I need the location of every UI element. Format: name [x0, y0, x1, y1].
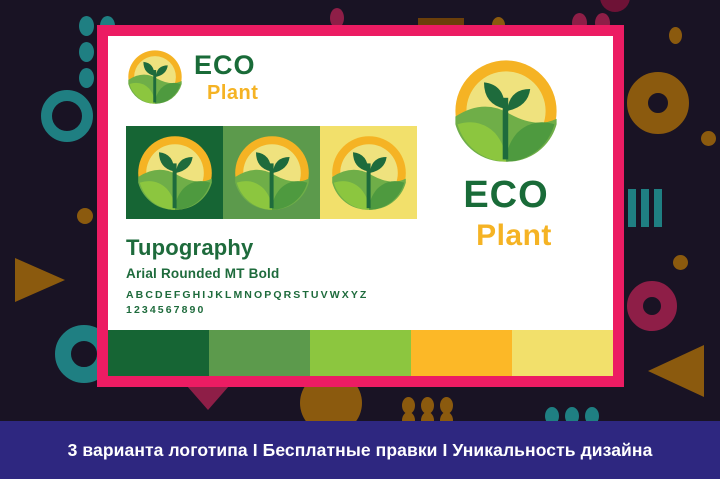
teal-dot [79, 68, 94, 88]
bottom-banner: 3 варианта логотипа I Бесплатные правки … [0, 421, 720, 479]
typography-font-name: Arial Rounded MT Bold [126, 266, 368, 281]
brown-triangle [648, 345, 704, 397]
color-palette [108, 330, 613, 376]
teal-ring [41, 90, 93, 142]
crimson-circle [600, 0, 630, 12]
brand-card-frame: ECO Plant [97, 25, 624, 387]
sprout-in-sun-circle-icon [451, 56, 561, 166]
brand-name-primary: ECO [194, 52, 258, 79]
variant-tile-pale-yellow[interactable] [320, 126, 417, 219]
swatch-medium-green[interactable] [209, 330, 310, 376]
teal-dot [79, 16, 94, 36]
brown-triangle [15, 258, 65, 302]
variant-tile-dark-green[interactable] [126, 126, 223, 219]
brown-dot [673, 255, 688, 270]
typography-numerals: 1234567890 [126, 304, 368, 316]
swatch-orange[interactable] [411, 330, 512, 376]
brand-main-lockup: ECO Plant [421, 56, 591, 253]
brand-name-secondary: Plant [207, 83, 258, 103]
sprout-in-sun-circle-icon [329, 133, 409, 213]
swatch-dark-green[interactable] [108, 330, 209, 376]
teal-bar [654, 189, 662, 227]
brand-name-primary: ECO [463, 174, 548, 217]
typography-title: Tupography [126, 235, 368, 261]
teal-dot [79, 42, 94, 62]
teal-bar [628, 189, 636, 227]
typography-alphabet: ABCDEFGHIJKLMNOPQRSTUVWXYZ [126, 289, 368, 301]
sprout-in-sun-circle-icon [135, 133, 215, 213]
brown-dot [669, 27, 682, 44]
brand-header-lockup: ECO Plant [126, 48, 258, 106]
swatch-light-green[interactable] [310, 330, 411, 376]
sprout-in-sun-circle-icon [232, 133, 312, 213]
typography-block: Tupography Arial Rounded MT Bold ABCDEFG… [126, 235, 368, 316]
sprout-in-sun-circle-icon [126, 48, 184, 106]
banner-text: 3 варианта логотипа I Бесплатные правки … [68, 440, 653, 461]
variant-tile-medium-green[interactable] [223, 126, 320, 219]
logo-variants-strip [126, 126, 417, 219]
crimson-ring [627, 281, 677, 331]
brand-name-secondary: Plant [476, 219, 552, 253]
brand-wordmark: ECO Plant [194, 52, 258, 103]
brown-dot [701, 131, 716, 146]
brown-dot [77, 208, 93, 224]
swatch-pale-yellow[interactable] [512, 330, 613, 376]
brown-ring [627, 72, 689, 134]
brand-card: ECO Plant [108, 36, 613, 376]
teal-bar [641, 189, 649, 227]
